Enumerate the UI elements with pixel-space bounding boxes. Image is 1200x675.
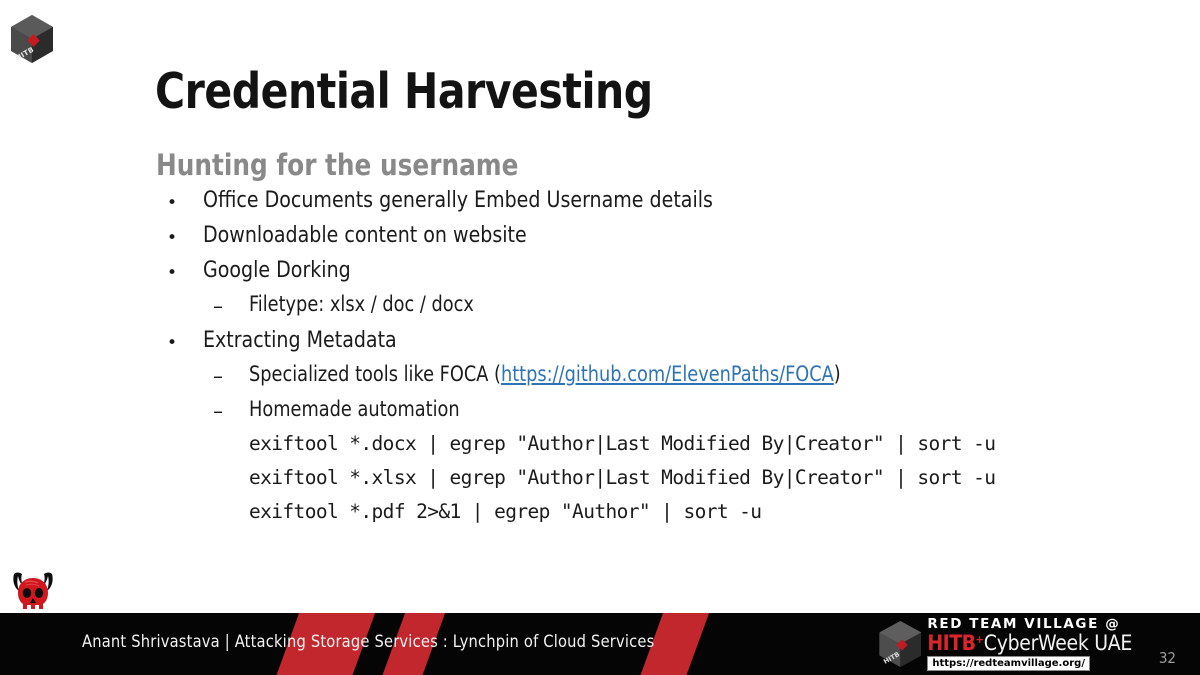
list-item: • Google Dorking <box>0 258 1200 293</box>
slide-number: 32 <box>1159 649 1176 667</box>
code-line: exiftool *.pdf 2>&1 | egrep "Author" | s… <box>0 501 1200 535</box>
list-item: • Downloadable content on website <box>0 223 1200 258</box>
footer-presenter-text: Anant Shrivastava | Attacking Storage Se… <box>82 632 655 652</box>
bullet-marker: • <box>167 335 177 352</box>
foca-text-suffix: ) <box>834 362 841 386</box>
page-subtitle: Hunting for the username <box>156 148 518 182</box>
bullet-text: Office Documents generally Embed Usernam… <box>203 189 713 212</box>
bullet-marker: • <box>167 195 177 212</box>
dash-marker: – <box>213 366 223 386</box>
code-line-text: exiftool *.pdf 2>&1 | egrep "Author" | s… <box>249 502 761 522</box>
bullet-list: • Office Documents generally Embed Usern… <box>0 188 1200 535</box>
footer-bar: Anant Shrivastava | Attacking Storage Se… <box>0 613 1200 675</box>
dash-marker: – <box>213 296 223 316</box>
red-skull-icon <box>8 570 58 616</box>
list-item: • Extracting Metadata <box>0 328 1200 363</box>
hitb-cube-logo: HITB <box>11 15 53 63</box>
dash-marker: – <box>213 401 223 421</box>
bullet-marker: • <box>167 230 177 247</box>
bullet-text: Downloadable content on website <box>203 224 527 247</box>
page-title: Credential Harvesting <box>155 63 653 120</box>
brand-cyberweek-text: CyberWeek UAE <box>984 632 1132 654</box>
sub-list-item: – Filetype: xlsx / doc / docx <box>0 293 1200 328</box>
code-line-text: exiftool *.docx | egrep "Author|Last Mod… <box>249 434 995 454</box>
brand-line-hitb-cyberweek: HITB+CyberWeek UAE <box>927 632 1132 654</box>
brand-text-block: RED TEAM VILLAGE @ HITB+CyberWeek UAE ht… <box>927 617 1132 672</box>
sub-bullet-text: Filetype: xlsx / doc / docx <box>249 294 474 315</box>
sub-bullet-text-with-link: Specialized tools like FOCA (https://git… <box>249 364 841 385</box>
code-line-text: exiftool *.xlsx | egrep "Author|Last Mod… <box>249 468 995 488</box>
brand-hitb-text: HITB <box>927 632 975 654</box>
brand-line-red-team-village: RED TEAM VILLAGE @ <box>927 617 1132 633</box>
red-team-village-brand: HITB RED TEAM VILLAGE @ HITB+CyberWeek U… <box>879 615 1132 673</box>
bullet-text: Google Dorking <box>203 259 351 282</box>
list-item: • Office Documents generally Embed Usern… <box>0 188 1200 223</box>
bullet-text: Extracting Metadata <box>203 329 397 352</box>
sub-list-item: – Homemade automation <box>0 398 1200 433</box>
code-line: exiftool *.xlsx | egrep "Author|Last Mod… <box>0 467 1200 501</box>
bullet-marker: • <box>167 265 177 282</box>
foca-github-link[interactable]: https://github.com/ElevenPaths/FOCA <box>501 362 834 386</box>
brand-url-badge[interactable]: https://redteamvillage.org/ <box>927 656 1090 671</box>
sub-list-item-foca: – Specialized tools like FOCA (https://g… <box>0 363 1200 398</box>
foca-text-prefix: Specialized tools like FOCA ( <box>249 362 501 386</box>
sub-bullet-text: Homemade automation <box>249 399 460 420</box>
brand-hitb-cube-icon: HITB <box>879 621 921 667</box>
code-line: exiftool *.docx | egrep "Author|Last Mod… <box>0 433 1200 467</box>
brand-plus-icon: + <box>976 634 984 646</box>
